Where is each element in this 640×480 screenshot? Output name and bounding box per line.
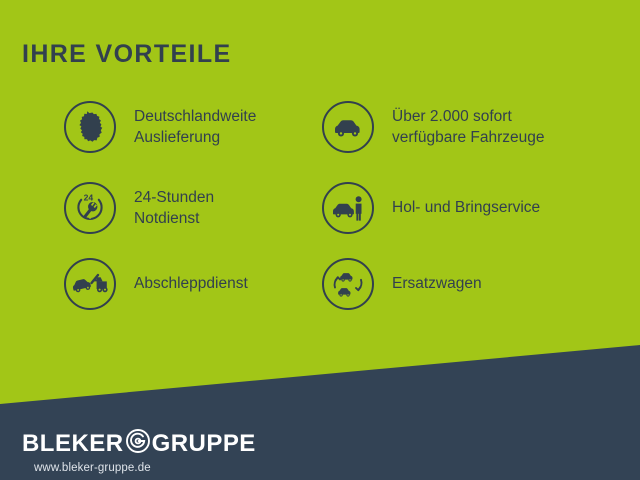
hours-badge-text: 24 [84, 193, 94, 203]
benefit-label: Hol- und Bringservice [392, 197, 540, 218]
website-url: www.bleker-gruppe.de [34, 462, 151, 474]
car-person-icon [330, 194, 366, 222]
logo-text-gruppe: GRUPPE [152, 432, 256, 456]
benefit-item-abschleppdienst: Abschleppdienst [64, 258, 248, 310]
benefit-item-24-stunden-notdienst: 24 24-Stunden Notdienst [64, 182, 214, 234]
germany-map-icon [75, 110, 105, 144]
benefit-item-verfuegbare-fahrzeuge: Über 2.000 sofort verfügbare Fahrzeuge [322, 101, 545, 153]
benefit-icon-badge [64, 101, 116, 153]
benefit-icon-badge [322, 258, 374, 310]
spiral-g-icon [125, 428, 151, 459]
green-background-panel [0, 0, 640, 480]
benefit-label: Abschleppdienst [134, 273, 248, 294]
two-cars-swap-icon [330, 267, 366, 301]
brand-logo: BLEKER GRUPPE [22, 428, 256, 459]
benefit-item-hol-und-bringservice: Hol- und Bringservice [322, 182, 540, 234]
logo-text-bleker: BLEKER [22, 432, 124, 456]
tow-truck-icon [71, 270, 109, 298]
benefit-icon-badge: 24 [64, 182, 116, 234]
benefit-item-deutschlandweite-auslieferung: Deutschlandweite Auslieferung [64, 101, 256, 153]
benefit-icon-badge [322, 182, 374, 234]
benefit-label: Über 2.000 sofort verfügbare Fahrzeuge [392, 106, 545, 149]
benefit-label: Ersatzwagen [392, 273, 482, 294]
car-icon [331, 116, 365, 138]
24h-wrench-icon: 24 [73, 191, 107, 225]
slide-canvas: IHRE VORTEILE Deutschlandweite Ausliefer… [0, 0, 640, 480]
page-title: IHRE VORTEILE [22, 40, 232, 69]
benefit-label: 24-Stunden Notdienst [134, 187, 214, 230]
benefit-label: Deutschlandweite Auslieferung [134, 106, 256, 149]
benefit-item-ersatzwagen: Ersatzwagen [322, 258, 482, 310]
benefit-icon-badge [322, 101, 374, 153]
benefit-icon-badge [64, 258, 116, 310]
